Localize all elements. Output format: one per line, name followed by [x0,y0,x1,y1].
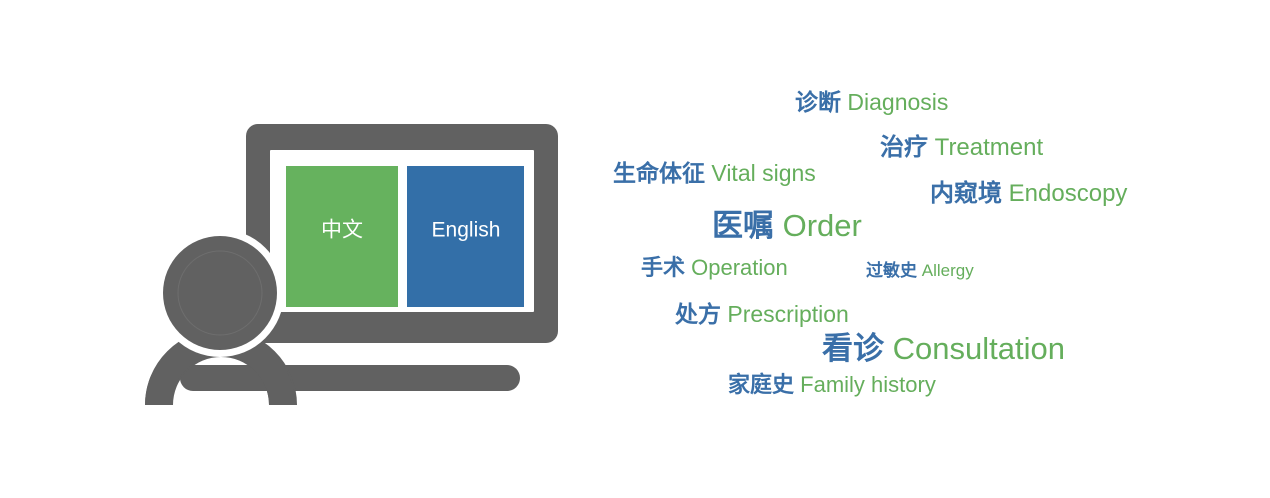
keyboard-bar [180,365,520,391]
term-consultation-zh: 看诊 [822,331,884,366]
term-endoscopy-en: Endoscopy [1009,180,1128,207]
term-operation-en: Operation [691,255,788,280]
term-order: 医嘱 Order [712,210,862,241]
term-family-history-zh: 家庭史 [728,372,794,397]
term-family-history: 家庭史 Family history [728,374,936,396]
term-order-zh: 医嘱 [712,208,774,243]
term-operation: 手术 Operation [641,257,788,279]
term-diagnosis-zh: 诊断 [795,89,841,115]
language-panel-english-label: English [432,219,501,242]
term-diagnosis: 诊断 Diagnosis [795,91,948,114]
term-family-history-en: Family history [800,372,936,397]
language-panel-chinese-label: 中文 [321,219,363,242]
term-diagnosis-en: Diagnosis [847,89,948,115]
medical-terms-wordcloud: 诊断 Diagnosis 治疗 Treatment 生命体征 Vital sig… [590,0,1270,498]
term-allergy-en: Allergy [922,261,974,280]
term-prescription: 处方 Prescription [675,303,849,326]
term-allergy: 过敏史 Allergy [866,262,974,279]
term-consultation: 看诊 Consultation [822,333,1065,364]
term-prescription-zh: 处方 [675,301,721,327]
person-head [163,236,277,350]
term-treatment: 治疗 Treatment [880,136,1043,160]
term-consultation-en: Consultation [893,331,1065,366]
term-endoscopy-zh: 内窥境 [930,180,1002,207]
term-endoscopy: 内窥境 Endoscopy [930,182,1127,206]
term-vital-signs: 生命体征 Vital signs [613,162,816,185]
term-treatment-zh: 治疗 [880,134,928,161]
term-treatment-en: Treatment [935,134,1043,161]
term-allergy-zh: 过敏史 [866,261,917,280]
term-vital-signs-en: Vital signs [711,160,815,186]
term-operation-zh: 手术 [641,255,685,280]
term-vital-signs-zh: 生命体征 [613,160,705,186]
term-prescription-en: Prescription [727,301,848,327]
bilingual-interface-illustration: 中文 English [0,0,600,498]
term-order-en: Order [783,208,862,243]
illustration-canvas: 中文 English 诊断 Diagnosis 治疗 Treatment [0,0,1270,498]
